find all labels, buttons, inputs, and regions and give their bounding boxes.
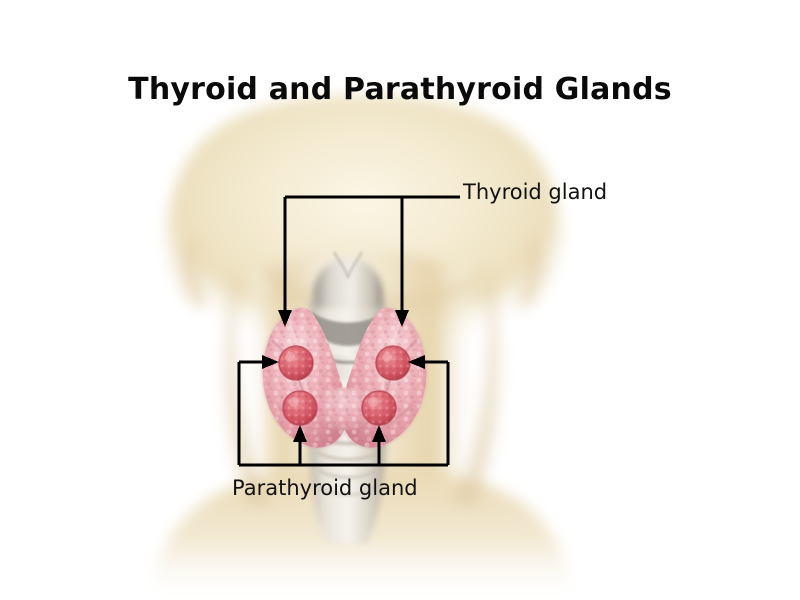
parathyroid-inferior-right [362, 391, 396, 425]
figure-container: Thyroid and Parathyroid Glands Thyroid g… [0, 0, 800, 600]
parathyroid-superior-right [376, 346, 410, 380]
label-parathyroid-gland: Parathyroid gland [232, 476, 418, 500]
parathyroid-inferior-left [283, 391, 317, 425]
figure-title: Thyroid and Parathyroid Glands [0, 72, 800, 107]
parathyroid-superior-left [279, 346, 313, 380]
label-thyroid-gland: Thyroid gland [463, 180, 607, 204]
